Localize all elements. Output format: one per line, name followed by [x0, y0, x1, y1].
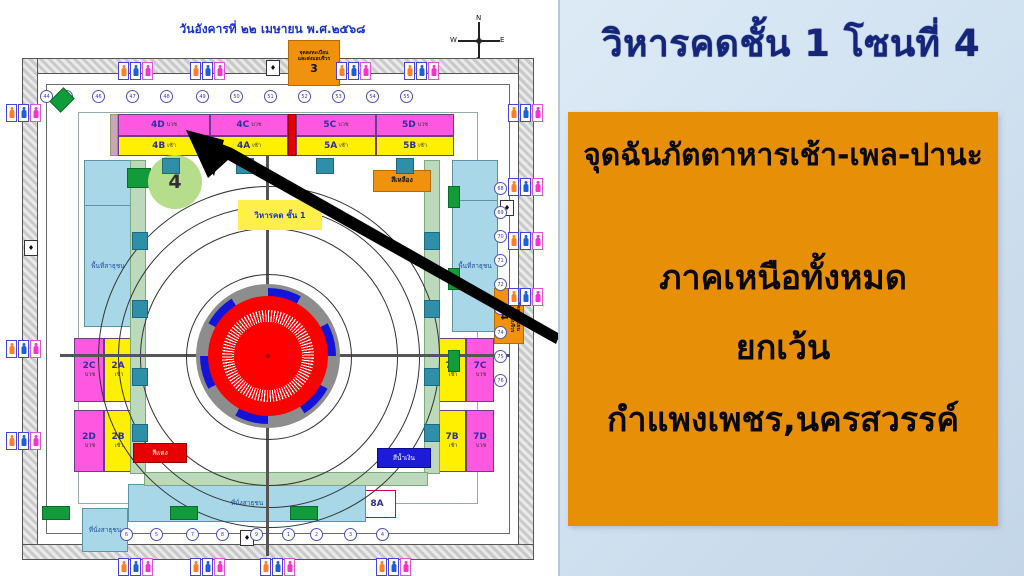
person-icon-orange [508, 178, 519, 196]
restroom-icon-left: ♦ [24, 240, 38, 256]
person-icon-magenta [532, 178, 543, 196]
info-line-meal-point: จุดฉันภัตตาหารเช้า-เพล-ปานะ [568, 132, 998, 179]
kiosk-right-4 [424, 424, 440, 442]
booth-number: 68 [494, 182, 507, 195]
block-5A-id: 5A [324, 141, 337, 151]
person-icon-magenta [142, 62, 153, 80]
legend-orange-label: สีเหลือง [391, 177, 413, 185]
block-7B-sub: เช้า [449, 442, 458, 450]
block-4B-sub: เช้า [167, 142, 176, 150]
person-icon-magenta [142, 558, 153, 576]
person-icon-blue [130, 62, 141, 80]
person-icon-magenta [284, 558, 295, 576]
block-4D-id: 4D [151, 120, 165, 130]
kiosk-top-2 [236, 158, 254, 174]
person-icon-blue [520, 232, 531, 250]
floor-plan-map[interactable]: วันอังคารที่ ๒๒ เมษายน พ.ศ.๒๕๖๘ N S W E … [0, 0, 560, 576]
person-icon-orange [404, 62, 415, 80]
people-group-top-4 [404, 62, 439, 80]
block-5D[interactable]: 5Dบวช [376, 114, 454, 136]
block-5D-sub: บวช [418, 121, 428, 129]
block-7A-sub: เช้า [449, 371, 458, 379]
sign-box-right-3 [448, 350, 460, 372]
person-icon-orange [376, 558, 387, 576]
person-icon-orange [508, 232, 519, 250]
chedi-center-dot [266, 354, 270, 358]
person-icon-blue [18, 340, 29, 358]
person-icon-blue [520, 178, 531, 196]
legend-blue-box[interactable]: สีน้ำเงิน [377, 448, 431, 468]
block-4D-sub: บวช [167, 121, 177, 129]
seat-area-left-bottom-label: พื้นที่สาธุชน [91, 262, 124, 270]
sign-box-bottom-1 [42, 506, 70, 520]
person-icon-orange [6, 340, 17, 358]
block-4A-sub: เช้า [252, 142, 261, 150]
seat-area-right-mid[interactable]: พื้นที่สาธุชน [452, 200, 498, 332]
sign-box-right-2 [448, 268, 460, 290]
person-icon-magenta [214, 558, 225, 576]
sign-box-bottom-2 [170, 506, 198, 520]
block-4A[interactable]: 4Aเช้า [210, 136, 288, 156]
kiosk-right-1 [424, 232, 440, 250]
people-group-top-1 [118, 62, 153, 80]
kiosk-left-3 [132, 368, 148, 386]
person-icon-orange [508, 104, 519, 122]
page-title: วิหารคดชั้น 1 โซนที่ 4 [558, 14, 1024, 73]
person-icon-orange [118, 558, 129, 576]
block-7C[interactable]: 7Cบวช [466, 338, 494, 402]
booth-number: 51 [264, 90, 277, 103]
people-group-bottom-2 [190, 558, 225, 576]
center-label-viharn-text: วิหารคด ชั้น 1 [254, 209, 305, 222]
kiosk-right-3 [424, 368, 440, 386]
person-icon-magenta [400, 558, 411, 576]
booth-number: 76 [494, 374, 507, 387]
block-7B-id: 7B [445, 432, 458, 442]
person-icon-blue [388, 558, 399, 576]
booth-number: 8 [216, 528, 229, 541]
person-icon-orange [336, 62, 347, 80]
booth-number: 75 [494, 350, 507, 363]
info-line-provinces: กำแพงเพชร,นครสวรรค์ [568, 392, 998, 446]
booth-number: 50 [230, 90, 243, 103]
people-group-right-3 [508, 232, 543, 250]
block-top-left-divider [110, 114, 118, 156]
person-icon-blue [416, 62, 427, 80]
person-icon-magenta [214, 62, 225, 80]
compass-east-label: E [500, 36, 504, 44]
kiosk-top-3 [316, 158, 334, 174]
person-icon-blue [520, 104, 531, 122]
person-icon-blue [202, 558, 213, 576]
sign-box-bottom-3 [290, 506, 318, 520]
booth-number: 52 [298, 90, 311, 103]
booth-number: 4 [376, 528, 389, 541]
info-line-region: ภาคเหนือทั้งหมด [568, 250, 998, 304]
block-7D[interactable]: 7Dบวช [466, 410, 494, 472]
person-icon-blue [202, 62, 213, 80]
block-4B-id: 4B [152, 141, 165, 151]
block-7C-id: 7C [474, 361, 487, 371]
people-group-bottom-1 [118, 558, 153, 576]
block-2C-id: 2C [83, 361, 96, 371]
booth-number: 46 [92, 90, 105, 103]
registration-point-3[interactable]: จุดลงทะเบียน และส่งมอบจีวร 3 [288, 40, 340, 86]
legend-blue-label: สีน้ำเงิน [393, 453, 415, 463]
seat-area-bottom-left-label: ที่นั่งสาธุชน [89, 526, 121, 534]
compass-north-label: N [476, 14, 481, 22]
people-group-right-2 [508, 178, 543, 196]
block-2D[interactable]: 2Dบวช [74, 410, 104, 472]
booth-number: 71 [494, 254, 507, 267]
people-group-left-2 [6, 340, 41, 358]
person-icon-blue [130, 558, 141, 576]
kiosk-left-1 [132, 232, 148, 250]
booth-number: 5 [150, 528, 163, 541]
booth-number: 53 [332, 90, 345, 103]
block-7B[interactable]: 7Bเช้า [438, 410, 466, 472]
booth-number: 49 [196, 90, 209, 103]
center-label-viharn: วิหารคด ชั้น 1 [238, 200, 322, 230]
kiosk-left-2 [132, 300, 148, 318]
block-2D-sub: บวช [85, 442, 95, 450]
person-icon-orange [260, 558, 271, 576]
block-7D-sub: บวช [476, 442, 486, 450]
people-group-right-4 [508, 288, 543, 306]
booth-number: 72 [494, 278, 507, 291]
person-icon-blue [272, 558, 283, 576]
legend-red-box[interactable]: สีแดง [133, 443, 187, 463]
person-icon-orange [190, 558, 201, 576]
block-5D-id: 5D [402, 120, 416, 130]
perimeter-wall-left [22, 58, 38, 560]
kiosk-top-1 [162, 158, 180, 174]
booth-number: 2 [310, 528, 323, 541]
booth-number: 3 [344, 528, 357, 541]
person-icon-magenta [532, 232, 543, 250]
person-icon-magenta [30, 340, 41, 358]
person-icon-magenta [30, 432, 41, 450]
block-4B[interactable]: 4Bเช้า [118, 136, 210, 156]
block-4C-sub: บวช [251, 121, 261, 129]
block-7C-sub: บวช [476, 371, 486, 379]
kiosk-top-4 [396, 158, 414, 174]
people-group-left-1 [6, 104, 41, 122]
booth-number: 74 [494, 326, 507, 339]
booth-number: 9 [250, 528, 263, 541]
registration-point-3-number: 3 [310, 62, 318, 75]
booth-number: 1 [282, 528, 295, 541]
block-8A-id: 8A [370, 499, 383, 509]
booth-number: 73 [494, 302, 507, 315]
booth-number: 6 [120, 528, 133, 541]
compass-west-label: W [450, 36, 457, 44]
info-panel: วิหารคดชั้น 1 โซนที่ 4 จุดฉันภัตตาหารเช้… [558, 0, 1024, 576]
restroom-icon-top: ♦ [266, 60, 280, 76]
kiosk-right-2 [424, 300, 440, 318]
sign-box-right-1 [448, 186, 460, 208]
booth-number: 55 [400, 90, 413, 103]
booth-number: 48 [160, 90, 173, 103]
people-group-left-3 [6, 432, 41, 450]
legend-red-label: สีแดง [152, 448, 168, 458]
block-7D-id: 7D [473, 432, 487, 442]
person-icon-magenta [360, 62, 371, 80]
block-5B[interactable]: 5Bเช้า [376, 136, 454, 156]
block-5C[interactable]: 5Cบวช [296, 114, 376, 136]
block-5C-id: 5C [323, 120, 336, 130]
booth-number: 69 [494, 206, 507, 219]
person-icon-magenta [428, 62, 439, 80]
zone-marker-4-label: 4 [168, 171, 181, 193]
kiosk-left-4 [132, 424, 148, 442]
block-5A-sub: เช้า [339, 142, 348, 150]
person-icon-blue [348, 62, 359, 80]
block-5A[interactable]: 5Aเช้า [296, 136, 376, 156]
block-4C[interactable]: 4Cบวช [210, 114, 288, 136]
block-5B-id: 5B [403, 141, 416, 151]
block-5B-sub: เช้า [418, 142, 427, 150]
people-group-top-2 [190, 62, 225, 80]
info-line-except: ยกเว้น [568, 320, 998, 374]
block-4C-id: 4C [236, 120, 249, 130]
booth-number: 54 [366, 90, 379, 103]
person-icon-orange [118, 62, 129, 80]
block-2D-id: 2D [82, 432, 96, 442]
person-icon-magenta [532, 104, 543, 122]
person-icon-blue [520, 288, 531, 306]
person-icon-orange [508, 288, 519, 306]
info-box[interactable]: จุดฉันภัตตาหารเช้า-เพล-ปานะ ภาคเหนือทั้ง… [568, 112, 998, 526]
compass-star-icon [472, 34, 486, 48]
booth-number: 47 [126, 90, 139, 103]
people-group-bottom-3 [260, 558, 295, 576]
booth-number: 7 [186, 528, 199, 541]
block-5C-sub: บวช [338, 121, 348, 129]
seat-area-right-mid-label: พื้นที่สาธุชน [458, 262, 491, 270]
block-2C-sub: บวช [85, 371, 95, 379]
person-icon-orange [6, 432, 17, 450]
block-top-red-divider [288, 114, 296, 156]
people-group-right-1 [508, 104, 543, 122]
person-icon-orange [190, 62, 201, 80]
person-icon-magenta [30, 104, 41, 122]
booth-number: 70 [494, 230, 507, 243]
person-icon-magenta [532, 288, 543, 306]
person-icon-blue [18, 432, 29, 450]
block-4D[interactable]: 4Dบวช [118, 114, 210, 136]
block-4A-id: 4A [237, 141, 250, 151]
people-group-top-3 [336, 62, 371, 80]
person-icon-blue [18, 104, 29, 122]
people-group-bottom-4 [376, 558, 411, 576]
person-icon-orange [6, 104, 17, 122]
